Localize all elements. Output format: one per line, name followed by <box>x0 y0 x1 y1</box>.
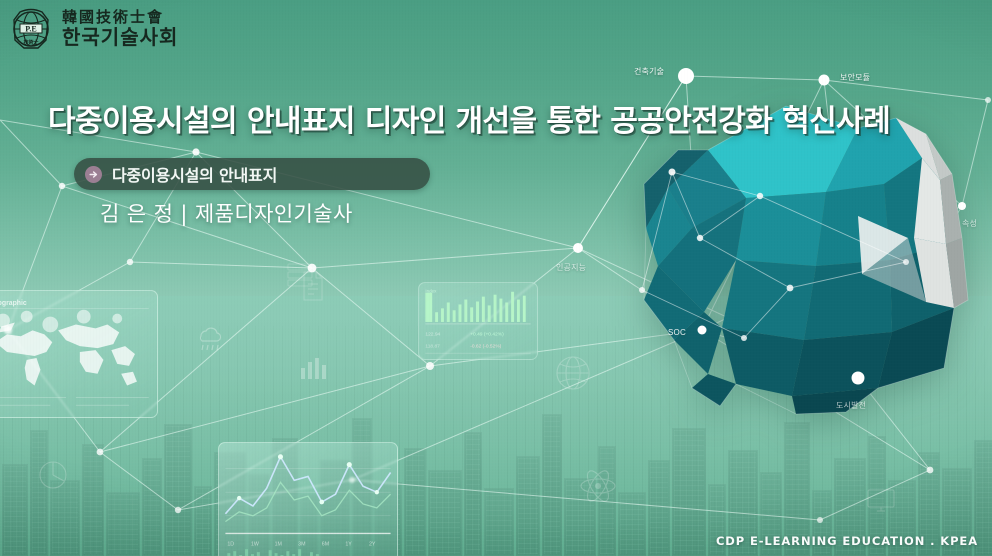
arrow-right-circle-icon <box>85 166 102 183</box>
grain-overlay <box>0 0 992 556</box>
presenter-line: 김 은 정 | 제품디자인기술사 <box>100 198 353 228</box>
subtitle-text: 다중이용시설의 안내표지 <box>112 162 277 186</box>
subtitle-pill: 다중이용시설의 안내표지 <box>74 158 430 190</box>
kpea-logo: P.E 技術士 韓國技術士會 한국기술사회 <box>8 6 178 52</box>
logo-korean: 한국기술사회 <box>62 27 178 48</box>
svg-text:技術士: 技術士 <box>23 39 38 46</box>
footer-credit: CDP E-LEARNING EDUCATION . KPEA <box>716 534 978 548</box>
kpea-globe-emblem: P.E 技術士 <box>8 6 54 52</box>
logo-hanja: 韓國技術士會 <box>62 10 178 26</box>
svg-text:P.E: P.E <box>25 24 37 33</box>
page-title: 다중이용시설의 안내표지 디자인 개선을 통한 공공안전강화 혁신사례 <box>48 96 890 140</box>
presentation-slide: 건축기술 보안모듈 속성 인공지능 SOC 도시발전 Infographic <box>0 0 992 556</box>
